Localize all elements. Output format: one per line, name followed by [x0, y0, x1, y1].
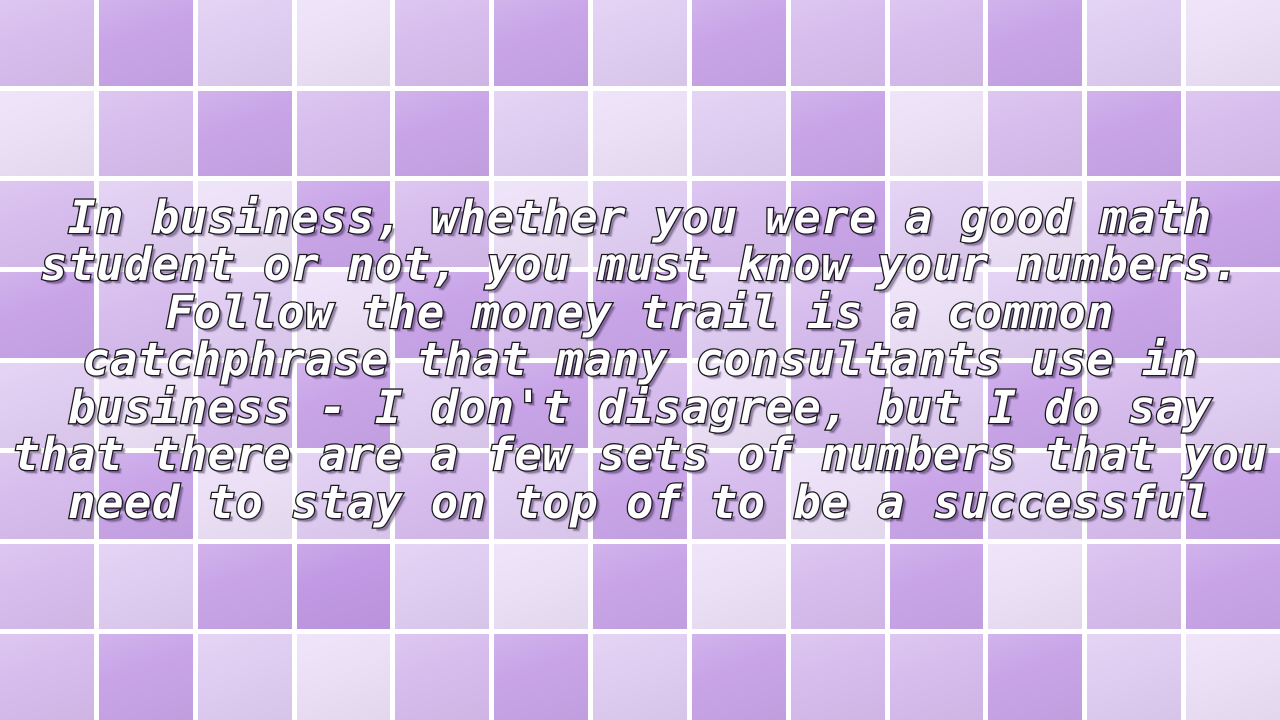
background-tile — [198, 272, 292, 358]
background-tile — [692, 544, 786, 630]
background-tile — [890, 544, 984, 630]
background-tile — [1087, 453, 1181, 539]
background-tile — [988, 0, 1082, 86]
background-tile — [395, 181, 489, 267]
background-tile — [395, 363, 489, 449]
background-tile — [198, 634, 292, 720]
background-tile — [1087, 363, 1181, 449]
background-tile — [988, 544, 1082, 630]
background-tile — [791, 272, 885, 358]
background-tile — [297, 453, 391, 539]
quote-image-canvas: In business, whether you were a good mat… — [0, 0, 1280, 720]
background-tile — [0, 363, 94, 449]
background-tile — [494, 363, 588, 449]
background-tile — [0, 272, 94, 358]
background-tile — [0, 453, 94, 539]
background-tile — [692, 0, 786, 86]
background-tile — [1186, 91, 1280, 177]
background-tile — [890, 453, 984, 539]
background-tile — [988, 181, 1082, 267]
background-tile — [593, 181, 687, 267]
background-tile — [395, 634, 489, 720]
background-tile — [1087, 91, 1181, 177]
background-tile — [297, 363, 391, 449]
background-tile — [0, 634, 94, 720]
background-tile — [198, 544, 292, 630]
background-tile — [593, 363, 687, 449]
background-tile — [99, 91, 193, 177]
background-tile — [395, 453, 489, 539]
background-tile — [692, 181, 786, 267]
background-tile — [494, 272, 588, 358]
background-tile — [297, 91, 391, 177]
background-tile — [1186, 363, 1280, 449]
background-tile — [692, 634, 786, 720]
background-tile — [99, 0, 193, 86]
background-tile — [297, 272, 391, 358]
tile-mosaic-background — [0, 0, 1280, 720]
background-tile — [988, 363, 1082, 449]
background-tile — [1186, 453, 1280, 539]
background-tile — [988, 272, 1082, 358]
background-tile — [395, 544, 489, 630]
background-tile — [99, 363, 193, 449]
background-tile — [494, 0, 588, 86]
background-tile — [791, 453, 885, 539]
background-tile — [99, 453, 193, 539]
background-tile — [593, 634, 687, 720]
background-tile — [0, 0, 94, 86]
background-tile — [1186, 181, 1280, 267]
background-tile — [297, 181, 391, 267]
background-tile — [0, 91, 94, 177]
background-tile — [494, 634, 588, 720]
background-tile — [791, 544, 885, 630]
background-tile — [1186, 634, 1280, 720]
background-tile — [791, 363, 885, 449]
background-tile — [198, 363, 292, 449]
background-tile — [99, 272, 193, 358]
background-tile — [593, 0, 687, 86]
background-tile — [297, 634, 391, 720]
background-tile — [593, 453, 687, 539]
background-tile — [494, 453, 588, 539]
background-tile — [791, 0, 885, 86]
background-tile — [494, 544, 588, 630]
background-tile — [791, 181, 885, 267]
background-tile — [988, 91, 1082, 177]
background-tile — [198, 453, 292, 539]
background-tile — [395, 91, 489, 177]
background-tile — [890, 363, 984, 449]
background-tile — [99, 181, 193, 267]
background-tile — [198, 0, 292, 86]
background-tile — [890, 0, 984, 86]
background-tile — [1186, 272, 1280, 358]
background-tile — [791, 91, 885, 177]
background-tile — [0, 181, 94, 267]
background-tile — [890, 91, 984, 177]
background-tile — [692, 272, 786, 358]
background-tile — [1087, 181, 1181, 267]
background-tile — [692, 363, 786, 449]
background-tile — [692, 453, 786, 539]
background-tile — [1087, 544, 1181, 630]
background-tile — [988, 453, 1082, 539]
background-tile — [890, 272, 984, 358]
background-tile — [1186, 0, 1280, 86]
background-tile — [99, 544, 193, 630]
background-tile — [988, 634, 1082, 720]
background-tile — [890, 181, 984, 267]
background-tile — [890, 634, 984, 720]
background-tile — [593, 91, 687, 177]
background-tile — [791, 634, 885, 720]
background-tile — [494, 91, 588, 177]
background-tile — [1186, 544, 1280, 630]
background-tile — [692, 91, 786, 177]
background-tile — [593, 544, 687, 630]
background-tile — [1087, 272, 1181, 358]
background-tile — [297, 544, 391, 630]
background-tile — [593, 272, 687, 358]
background-tile — [395, 0, 489, 86]
background-tile — [1087, 634, 1181, 720]
background-tile — [494, 181, 588, 267]
background-tile — [99, 634, 193, 720]
background-tile — [1087, 0, 1181, 86]
background-tile — [0, 544, 94, 630]
background-tile — [395, 272, 489, 358]
background-tile — [297, 0, 391, 86]
background-tile — [198, 91, 292, 177]
background-tile — [198, 181, 292, 267]
